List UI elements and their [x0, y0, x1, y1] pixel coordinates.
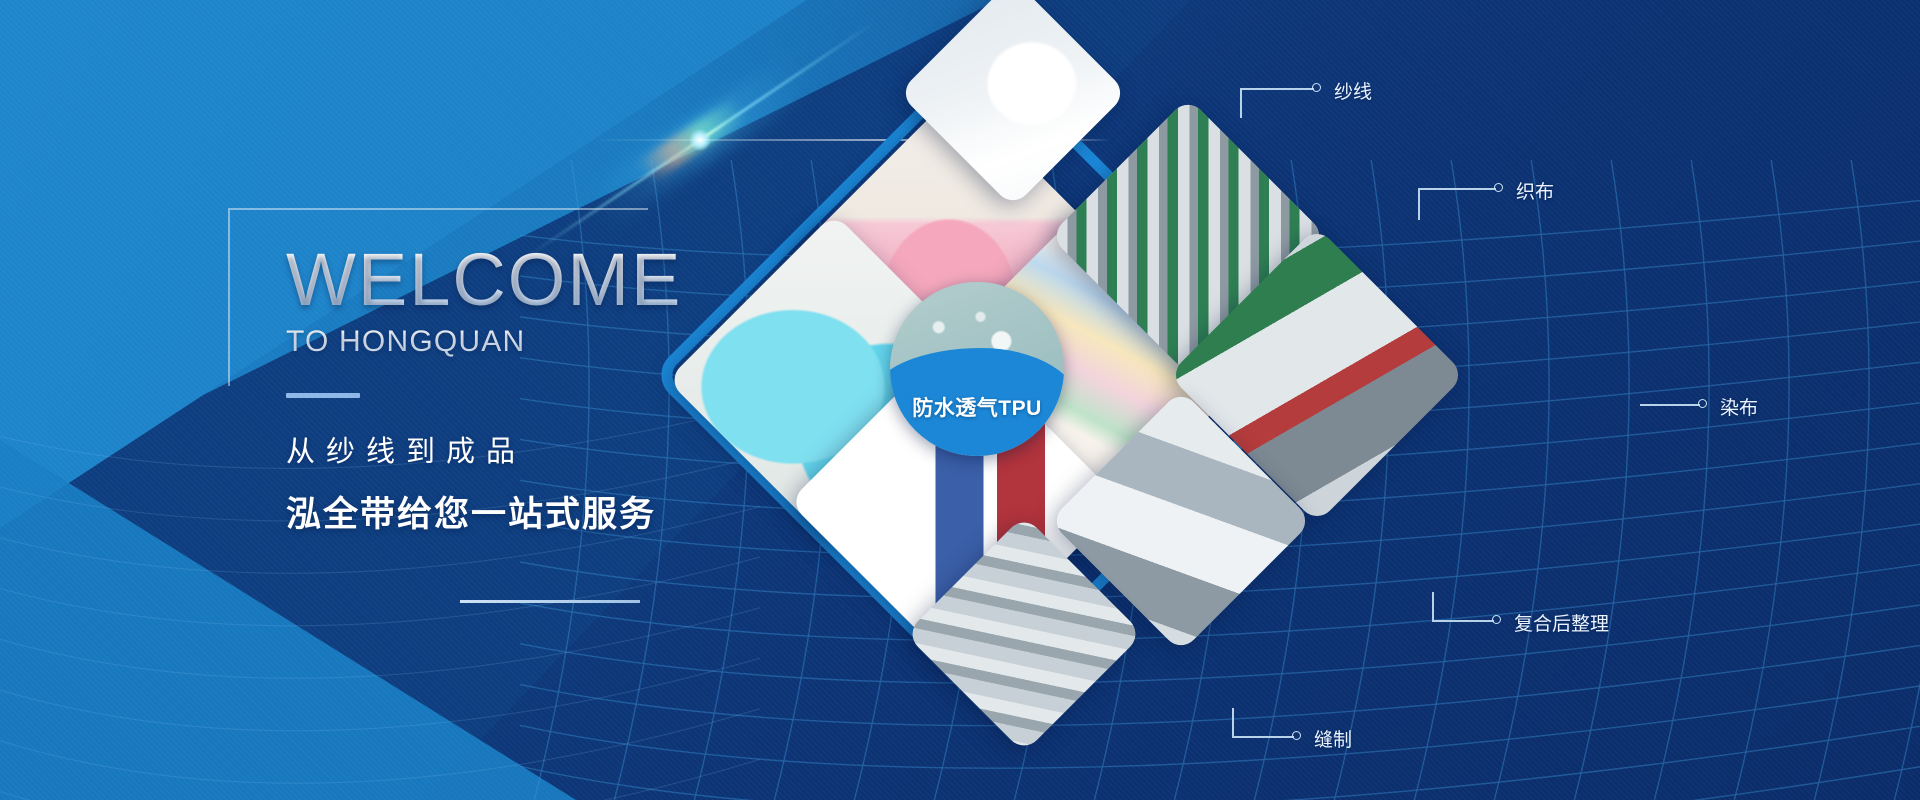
- bottom-divider: [460, 600, 640, 603]
- leader-line-sewing: [1232, 736, 1294, 738]
- process-label-sewing: 缝制: [1314, 725, 1352, 752]
- leader-drop-yarn: [1240, 88, 1242, 118]
- connector-dot-dyeing: [1698, 399, 1707, 408]
- process-label-yarn: 纱线: [1334, 77, 1372, 104]
- process-label-finishing: 复合后整理: [1514, 609, 1609, 636]
- connector-dot-finishing: [1492, 615, 1501, 624]
- badge-label: 防水透气TPU: [890, 392, 1064, 422]
- leader-line-dyeing: [1640, 404, 1700, 406]
- leader-line-yarn: [1240, 88, 1314, 90]
- hero-banner: WELCOME TO HONGQUAN 从纱线到成品 泓全带给您一站式服务: [0, 0, 1920, 800]
- process-label-dyeing: 染布: [1720, 393, 1758, 420]
- status-badge[interactable]: 防水透气TPU: [890, 282, 1064, 456]
- connector-dot-weaving: [1494, 183, 1503, 192]
- connector-dot-yarn: [1312, 83, 1321, 92]
- leader-drop-sewing: [1232, 708, 1234, 738]
- connector-dot-sewing: [1292, 731, 1301, 740]
- leader-line-weaving: [1418, 188, 1496, 190]
- process-label-weaving: 织布: [1516, 177, 1554, 204]
- accent-rule: [286, 393, 360, 398]
- leader-drop-weaving: [1418, 188, 1420, 220]
- leader-line-finishing: [1432, 620, 1494, 622]
- leader-drop-finishing: [1432, 592, 1434, 622]
